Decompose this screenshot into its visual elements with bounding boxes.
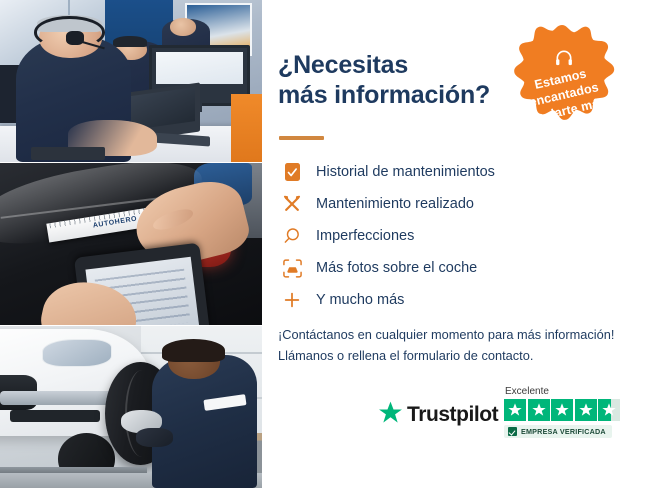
feature-list: Historial de mantenimientos Mantenimient… — [276, 156, 616, 316]
trustpilot-wordmark: Trustpilot — [407, 403, 498, 427]
headset-earcup — [66, 31, 84, 46]
page-title-line-2: más información? — [278, 80, 528, 110]
trustpilot-rating: Trustpilot Excelente — [378, 386, 630, 448]
call-center-agents-photo — [0, 0, 262, 162]
clipboard-check-icon — [276, 156, 308, 188]
desk-tablet — [31, 147, 104, 160]
car-inspection-ruler-photo: AUTOHERO — [0, 162, 262, 325]
verified-business-label: EMPRESA VERIFICADA — [521, 427, 606, 436]
autohero-ruler-brand: AUTOHERO — [93, 216, 138, 230]
content-panel: ¿Necesitas más información? Estamos enca… — [262, 0, 650, 488]
trustpilot-rating-label: Excelente — [505, 386, 630, 397]
feature-label: Historial de mantenimientos — [308, 164, 495, 180]
trustpilot-logo[interactable]: Trustpilot — [378, 400, 498, 430]
plus-icon — [276, 284, 308, 316]
agent-two-hair — [113, 36, 147, 47]
wrench-screwdriver-icon — [276, 188, 308, 220]
mechanic-glove-dark — [136, 428, 173, 447]
feature-item-much-more: Y mucho más — [276, 284, 616, 316]
contact-paragraph: ¡Contáctanos en cualquier momento para m… — [278, 325, 634, 366]
trustpilot-stars — [504, 399, 630, 421]
car-frame-icon — [276, 252, 308, 284]
trustpilot-star-filled — [575, 399, 597, 421]
trustpilot-star-filled — [528, 399, 550, 421]
trustpilot-star-filled — [504, 399, 526, 421]
orange-rack — [231, 94, 262, 162]
car-headlight — [42, 339, 112, 367]
mechanic-hair — [162, 339, 225, 362]
feature-label: Más fotos sobre el coche — [308, 260, 477, 276]
car-bumper — [0, 391, 115, 406]
feature-label: Mantenimiento realizado — [308, 196, 474, 212]
support-badge: Estamos encantados de darte más informac… — [498, 22, 626, 150]
title-divider — [279, 136, 324, 140]
trustpilot-star-partial — [598, 399, 620, 421]
photo-collage: AUTOHERO — [0, 0, 262, 488]
feature-item-more-photos: Más fotos sobre el coche — [276, 252, 616, 284]
trustpilot-score: Excelente — [504, 386, 630, 441]
magnifier-icon — [276, 220, 308, 252]
feature-label: Imperfecciones — [308, 228, 414, 244]
trustpilot-star-filled — [551, 399, 573, 421]
information-promo-card: AUTOHERO — [0, 0, 650, 488]
feature-item-imperfections: Imperfecciones — [276, 220, 616, 252]
verified-check-icon — [508, 427, 517, 436]
contact-line-2: Llámanos o rellena el formulario de cont… — [278, 346, 634, 367]
mechanic-wheel-inspection-photo — [0, 325, 262, 488]
car-air-vent — [10, 410, 99, 421]
feature-item-maintenance-done: Mantenimiento realizado — [276, 188, 616, 220]
contact-line-1: ¡Contáctanos en cualquier momento para m… — [278, 325, 634, 346]
agent-three-head — [170, 18, 196, 36]
trustpilot-star-icon — [378, 400, 403, 430]
feature-item-maintenance-history: Historial de mantenimientos — [276, 156, 616, 188]
verified-business-badge: EMPRESA VERIFICADA — [504, 425, 612, 438]
feature-label: Y mucho más — [308, 292, 404, 308]
